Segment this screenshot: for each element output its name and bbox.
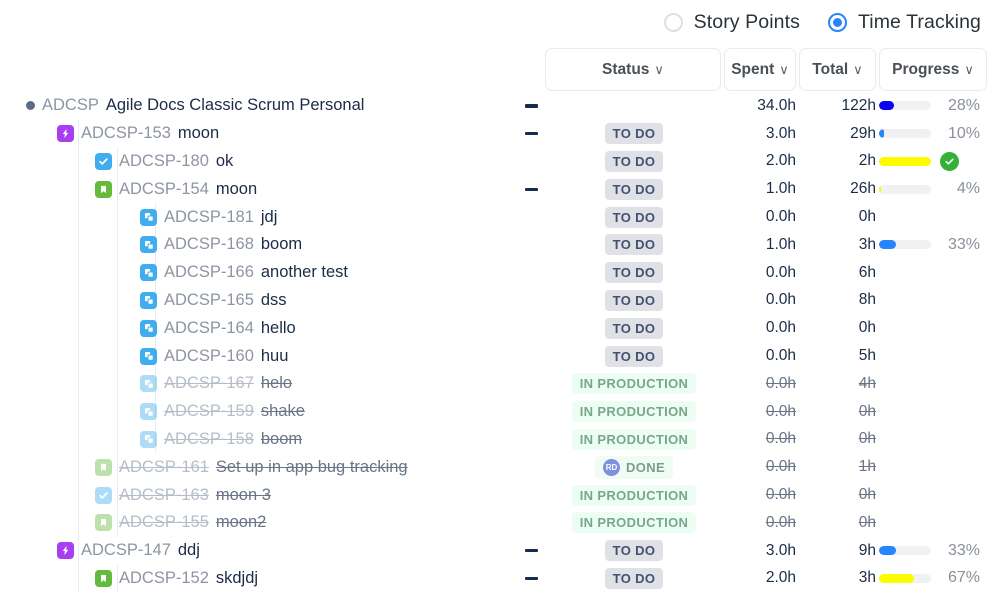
table-row[interactable]: ADCSP-153moonTO DO3.0h29h10%: [0, 120, 999, 148]
status-badge-label: IN PRODUCTION: [580, 432, 689, 447]
progress-track: [879, 129, 931, 138]
spent-value: 1.0h: [706, 175, 796, 203]
spent-value: 0.0h: [706, 370, 796, 398]
progress-percent-label: 4%: [940, 180, 980, 198]
status-badge[interactable]: TO DO: [605, 318, 664, 339]
issue-name-cell[interactable]: ADCSP-163moon 3: [95, 481, 271, 509]
subtask-type-icon: [140, 403, 157, 420]
status-cell: TO DO: [545, 175, 723, 203]
issue-name-cell[interactable]: ADCSPAgile Docs Classic Scrum Personal: [26, 92, 364, 120]
status-badge-label: TO DO: [613, 154, 656, 169]
issue-tree-rows: ADCSPAgile Docs Classic Scrum Personal34…: [0, 92, 999, 592]
progress-fill: [879, 185, 881, 194]
issue-summary[interactable]: huu: [261, 347, 289, 366]
tree-guide-line: [78, 148, 79, 176]
status-badge[interactable]: TO DO: [605, 540, 664, 561]
radio-dot-story-points[interactable]: [664, 13, 683, 32]
progress-cell: 67%: [879, 565, 980, 593]
table-row[interactable]: ADCSP-167heloIN PRODUCTION0.0h4h: [0, 370, 999, 398]
column-header-label: Spent: [731, 61, 774, 79]
status-cell: TO DO: [545, 148, 723, 176]
progress-track: [879, 574, 931, 583]
radio-label-time-tracking: Time Tracking: [858, 11, 981, 34]
progress-percent-label: 33%: [940, 236, 980, 254]
status-badge[interactable]: IN PRODUCTION: [572, 429, 697, 450]
tree-guide-line: [78, 565, 79, 593]
status-badge[interactable]: TO DO: [605, 568, 664, 589]
epic-type-icon: [57, 125, 74, 142]
story-type-icon: [95, 181, 112, 198]
status-cell: TO DO: [545, 259, 723, 287]
total-value: 3h: [806, 231, 876, 259]
chevron-down-icon[interactable]: ∨: [779, 62, 789, 78]
status-cell: IN PRODUCTION: [545, 370, 723, 398]
progress-track: [879, 240, 931, 249]
table-row[interactable]: ADCSP-163moon 3IN PRODUCTION0.0h0h: [0, 481, 999, 509]
tree-guide-line: [117, 342, 118, 370]
progress-percent-label: 10%: [940, 125, 980, 143]
issue-key[interactable]: ADCSP-166: [164, 263, 254, 282]
issue-key[interactable]: ADCSP-159: [164, 402, 254, 421]
table-row[interactable]: ADCSP-180okTO DO2.0h2h: [0, 148, 999, 176]
radio-dot-time-tracking[interactable]: [828, 13, 847, 32]
spent-value: 0.0h: [706, 314, 796, 342]
progress-cell: 33%: [879, 537, 980, 565]
status-cell: TO DO: [545, 314, 723, 342]
total-value: 8h: [806, 287, 876, 315]
tree-guide-line: [117, 259, 118, 287]
status-badge-label: TO DO: [613, 126, 656, 141]
total-value: 0h: [806, 203, 876, 231]
epic-type-icon: [57, 542, 74, 559]
tree-guide-line: [117, 231, 118, 259]
column-header-label: Total: [812, 61, 848, 79]
status-cell: TO DO: [545, 537, 723, 565]
column-header-label: Progress: [892, 61, 959, 79]
status-badge[interactable]: TO DO: [605, 290, 664, 311]
progress-fill: [879, 129, 884, 138]
issue-summary[interactable]: shake: [261, 402, 305, 421]
total-value: 0h: [806, 398, 876, 426]
tree-guide-line: [78, 175, 79, 203]
status-badge-label: TO DO: [613, 543, 656, 558]
total-value: 4h: [806, 370, 876, 398]
issue-key[interactable]: ADCSP-155: [119, 513, 209, 532]
issue-key[interactable]: ADCSP-153: [81, 124, 171, 143]
issue-summary[interactable]: moon2: [216, 513, 266, 532]
spent-value: 3.0h: [706, 537, 796, 565]
status-badge-label: TO DO: [613, 293, 656, 308]
story-type-icon: [95, 514, 112, 531]
issue-key[interactable]: ADCSP-180: [119, 152, 209, 171]
status-badge-label: IN PRODUCTION: [580, 488, 689, 503]
table-row[interactable]: ADCSP-164helloTO DO0.0h0h: [0, 314, 999, 342]
status-badge-label: TO DO: [613, 265, 656, 280]
issue-name-cell[interactable]: ADCSP-155moon2: [95, 509, 266, 537]
issue-summary[interactable]: boom: [261, 430, 302, 449]
issue-summary[interactable]: jdj: [261, 208, 278, 227]
tree-guide-line: [78, 453, 79, 481]
spent-value: 0.0h: [706, 426, 796, 454]
time-tracking-tree-view: Story PointsTime Tracking Status∨Spent∨T…: [0, 0, 999, 610]
radio-story-points[interactable]: Story Points: [664, 11, 800, 34]
spent-value: 0.0h: [706, 453, 796, 481]
status-badge-label: TO DO: [613, 571, 656, 586]
tree-guide-line: [117, 426, 118, 454]
status-badge[interactable]: TO DO: [605, 207, 664, 228]
radio-time-tracking[interactable]: Time Tracking: [828, 11, 981, 34]
table-row[interactable]: ADCSP-154moonTO DO1.0h26h4%: [0, 175, 999, 203]
issue-summary[interactable]: moon 3: [216, 486, 271, 505]
column-header-total[interactable]: Total∨: [799, 48, 876, 91]
issue-name-cell[interactable]: ADCSP-158boom: [140, 426, 302, 454]
issue-summary[interactable]: moon: [216, 180, 257, 199]
progress-cell: 33%: [879, 231, 980, 259]
status-cell: TO DO: [545, 287, 723, 315]
collapse-dash-icon[interactable]: [516, 565, 546, 593]
spent-value: 0.0h: [706, 203, 796, 231]
issue-summary[interactable]: hello: [261, 319, 296, 338]
column-header-label: Status: [602, 61, 649, 79]
spent-value: 0.0h: [706, 509, 796, 537]
issue-key[interactable]: ADCSP-168: [164, 235, 254, 254]
tree-guide-line: [78, 259, 79, 287]
status-badge[interactable]: TO DO: [605, 151, 664, 172]
issue-key[interactable]: ADCSP: [42, 96, 99, 115]
issue-name-cell[interactable]: ADCSP-181jdj: [140, 203, 277, 231]
status-badge[interactable]: IN PRODUCTION: [572, 373, 697, 394]
issue-key[interactable]: ADCSP-161: [119, 458, 209, 477]
issue-summary[interactable]: Set up in app bug tracking: [216, 458, 408, 477]
total-value: 0h: [806, 314, 876, 342]
issue-summary[interactable]: helo: [261, 374, 292, 393]
status-badge[interactable]: RDDONE: [595, 456, 673, 479]
spent-value: 2.0h: [706, 565, 796, 593]
status-cell: IN PRODUCTION: [545, 509, 723, 537]
progress-track: [879, 101, 931, 110]
table-row[interactable]: ADCSP-159shakeIN PRODUCTION0.0h0h: [0, 398, 999, 426]
table-row[interactable]: ADCSP-165dssTO DO0.0h8h: [0, 287, 999, 315]
tree-guide-line: [117, 398, 118, 426]
tree-guide-line: [78, 370, 79, 398]
issue-key[interactable]: ADCSP-152: [119, 569, 209, 588]
tree-indent-guides: [0, 565, 520, 593]
status-cell: TO DO: [545, 120, 723, 148]
issue-name-cell[interactable]: ADCSP-147ddj: [57, 537, 200, 565]
tree-guide-line: [78, 509, 79, 537]
status-cell: IN PRODUCTION: [545, 426, 723, 454]
total-value: 2h: [806, 148, 876, 176]
tree-guide-line: [117, 287, 118, 315]
tree-guide-line: [78, 287, 79, 315]
progress-fill: [879, 240, 896, 249]
table-row[interactable]: ADCSPAgile Docs Classic Scrum Personal34…: [0, 92, 999, 120]
status-badge[interactable]: TO DO: [605, 262, 664, 283]
progress-percent-label: 28%: [940, 97, 980, 115]
spent-value: 0.0h: [706, 287, 796, 315]
status-badge-label: IN PRODUCTION: [580, 404, 689, 419]
status-badge[interactable]: TO DO: [605, 179, 664, 200]
issue-key[interactable]: ADCSP-164: [164, 319, 254, 338]
total-value: 5h: [806, 342, 876, 370]
tree-guide-line: [117, 203, 118, 231]
collapse-dash-icon[interactable]: [516, 175, 546, 203]
status-badge-label: IN PRODUCTION: [580, 515, 689, 530]
spent-value: 2.0h: [706, 148, 796, 176]
total-value: 1h: [806, 453, 876, 481]
table-row[interactable]: ADCSP-160huuTO DO0.0h5h: [0, 342, 999, 370]
status-cell: TO DO: [545, 203, 723, 231]
total-value: 0h: [806, 509, 876, 537]
issue-summary[interactable]: ddj: [178, 541, 200, 560]
task-type-icon: [95, 487, 112, 504]
progress-cell: 28%: [879, 92, 980, 120]
tree-guide-line: [78, 231, 79, 259]
column-header-row: Status∨Spent∨Total∨Progress∨: [0, 48, 999, 92]
table-row[interactable]: ADCSP-168boomTO DO1.0h3h33%: [0, 231, 999, 259]
issue-summary[interactable]: dss: [261, 291, 287, 310]
progress-track: [879, 185, 931, 194]
total-value: 26h: [806, 175, 876, 203]
issue-name-cell[interactable]: ADCSP-159shake: [140, 398, 305, 426]
progress-cell: 10%: [879, 120, 980, 148]
table-row[interactable]: ADCSP-158boomIN PRODUCTION0.0h0h: [0, 426, 999, 454]
issue-name-cell[interactable]: ADCSP-165dss: [140, 287, 287, 315]
status-badge[interactable]: TO DO: [605, 123, 664, 144]
issue-summary[interactable]: ok: [216, 152, 233, 171]
column-header-status[interactable]: Status∨: [545, 48, 721, 91]
subtask-type-icon: [140, 320, 157, 337]
progress-fill: [879, 546, 896, 555]
tree-guide-line: [78, 481, 79, 509]
total-value: 9h: [806, 537, 876, 565]
status-cell: TO DO: [545, 231, 723, 259]
issue-name-cell[interactable]: ADCSP-152skdjdj: [95, 565, 258, 593]
progress-track: [879, 546, 931, 555]
status-badge-label: TO DO: [613, 182, 656, 197]
spent-value: 0.0h: [706, 481, 796, 509]
chevron-down-icon[interactable]: ∨: [853, 62, 863, 78]
radio-label-story-points: Story Points: [694, 11, 800, 34]
status-badge-label: IN PRODUCTION: [580, 376, 689, 391]
chevron-down-icon[interactable]: ∨: [964, 62, 974, 78]
total-value: 3h: [806, 565, 876, 593]
issue-summary[interactable]: Agile Docs Classic Scrum Personal: [106, 96, 365, 115]
tree-guide-line: [78, 342, 79, 370]
table-row[interactable]: ADCSP-166another testTO DO0.0h6h: [0, 259, 999, 287]
progress-track: [879, 157, 931, 166]
status-cell: TO DO: [545, 342, 723, 370]
progress-fill: [879, 574, 914, 583]
total-value: 0h: [806, 481, 876, 509]
table-row[interactable]: ADCSP-155moon2IN PRODUCTION0.0h0h: [0, 509, 999, 537]
issue-key[interactable]: ADCSP-181: [164, 208, 254, 227]
subtask-type-icon: [140, 348, 157, 365]
issue-summary[interactable]: moon: [178, 124, 219, 143]
issue-name-cell[interactable]: ADCSP-154moon: [95, 175, 257, 203]
tree-guide-line: [78, 398, 79, 426]
status-badge[interactable]: IN PRODUCTION: [572, 512, 697, 533]
progress-fill: [879, 101, 894, 110]
status-badge-label: TO DO: [613, 321, 656, 336]
status-badge-label: TO DO: [613, 237, 656, 252]
issue-name-cell[interactable]: ADCSP-166another test: [140, 259, 348, 287]
chevron-down-icon[interactable]: ∨: [654, 62, 664, 78]
story-type-icon: [95, 459, 112, 476]
progress-complete-check-icon: [940, 152, 959, 171]
issue-name-cell[interactable]: ADCSP-180ok: [95, 148, 233, 176]
status-badge[interactable]: IN PRODUCTION: [572, 401, 697, 422]
story-type-icon: [95, 570, 112, 587]
status-cell: TO DO: [545, 565, 723, 593]
column-header-progress[interactable]: Progress∨: [879, 48, 987, 91]
spent-value: 34.0h: [706, 92, 796, 120]
table-row[interactable]: ADCSP-152skdjdjTO DO2.0h3h67%: [0, 565, 999, 593]
issue-key[interactable]: ADCSP-147: [81, 541, 171, 560]
tree-guide-line: [78, 426, 79, 454]
issue-key[interactable]: ADCSP-158: [164, 430, 254, 449]
avatar: RD: [603, 459, 620, 476]
issue-name-cell[interactable]: ADCSP-164hello: [140, 314, 296, 342]
progress-fill: [879, 157, 931, 166]
total-value: 29h: [806, 120, 876, 148]
issue-key[interactable]: ADCSP-163: [119, 486, 209, 505]
estimation-mode-toggle: Story PointsTime Tracking: [0, 0, 999, 45]
total-value: 6h: [806, 259, 876, 287]
status-badge-label: TO DO: [613, 349, 656, 364]
tree-guide-line: [117, 314, 118, 342]
progress-percent-label: 33%: [940, 542, 980, 560]
tree-indent-guides: [0, 175, 520, 203]
issue-key[interactable]: ADCSP-154: [119, 180, 209, 199]
progress-cell: [879, 148, 959, 176]
issue-name-cell[interactable]: ADCSP-153moon: [57, 120, 219, 148]
subtask-type-icon: [140, 209, 157, 226]
status-cell: IN PRODUCTION: [545, 481, 723, 509]
subtask-type-icon: [140, 264, 157, 281]
spent-value: 0.0h: [706, 398, 796, 426]
tree-guide-line: [117, 370, 118, 398]
issue-summary[interactable]: skdjdj: [216, 569, 258, 588]
project-bullet-icon: [26, 101, 35, 110]
status-badge-label: DONE: [626, 460, 665, 475]
task-type-icon: [95, 153, 112, 170]
status-badge[interactable]: IN PRODUCTION: [572, 485, 697, 506]
subtask-type-icon: [140, 236, 157, 253]
collapse-dash-icon[interactable]: [516, 120, 546, 148]
subtask-type-icon: [140, 292, 157, 309]
status-badge[interactable]: TO DO: [605, 346, 664, 367]
status-cell: RDDONE: [545, 453, 723, 481]
column-header-spent[interactable]: Spent∨: [724, 48, 796, 91]
spent-value: 1.0h: [706, 231, 796, 259]
status-badge-label: TO DO: [613, 210, 656, 225]
subtask-type-icon: [140, 375, 157, 392]
collapse-dash-icon[interactable]: [516, 92, 546, 120]
issue-name-cell[interactable]: ADCSP-168boom: [140, 231, 302, 259]
issue-name-cell[interactable]: ADCSP-160huu: [140, 342, 288, 370]
status-cell: IN PRODUCTION: [545, 398, 723, 426]
issue-key[interactable]: ADCSP-160: [164, 347, 254, 366]
progress-percent-label: 67%: [940, 569, 980, 587]
issue-name-cell[interactable]: ADCSP-167helo: [140, 370, 292, 398]
issue-key[interactable]: ADCSP-167: [164, 374, 254, 393]
tree-guide-line: [78, 203, 79, 231]
table-row[interactable]: ADCSP-161Set up in app bug trackingRDDON…: [0, 453, 999, 481]
total-value: 0h: [806, 426, 876, 454]
issue-summary[interactable]: boom: [261, 235, 302, 254]
table-row[interactable]: ADCSP-147ddjTO DO3.0h9h33%: [0, 537, 999, 565]
tree-indent-guides: [0, 148, 520, 176]
progress-cell: 4%: [879, 175, 980, 203]
spent-value: 0.0h: [706, 259, 796, 287]
collapse-dash-icon[interactable]: [516, 537, 546, 565]
issue-name-cell[interactable]: ADCSP-161Set up in app bug tracking: [95, 453, 408, 481]
total-value: 122h: [806, 92, 876, 120]
issue-key[interactable]: ADCSP-165: [164, 291, 254, 310]
spent-value: 0.0h: [706, 342, 796, 370]
spent-value: 3.0h: [706, 120, 796, 148]
issue-summary[interactable]: another test: [261, 263, 348, 282]
tree-guide-line: [78, 314, 79, 342]
status-badge[interactable]: TO DO: [605, 234, 664, 255]
subtask-type-icon: [140, 431, 157, 448]
table-row[interactable]: ADCSP-181jdjTO DO0.0h0h: [0, 203, 999, 231]
